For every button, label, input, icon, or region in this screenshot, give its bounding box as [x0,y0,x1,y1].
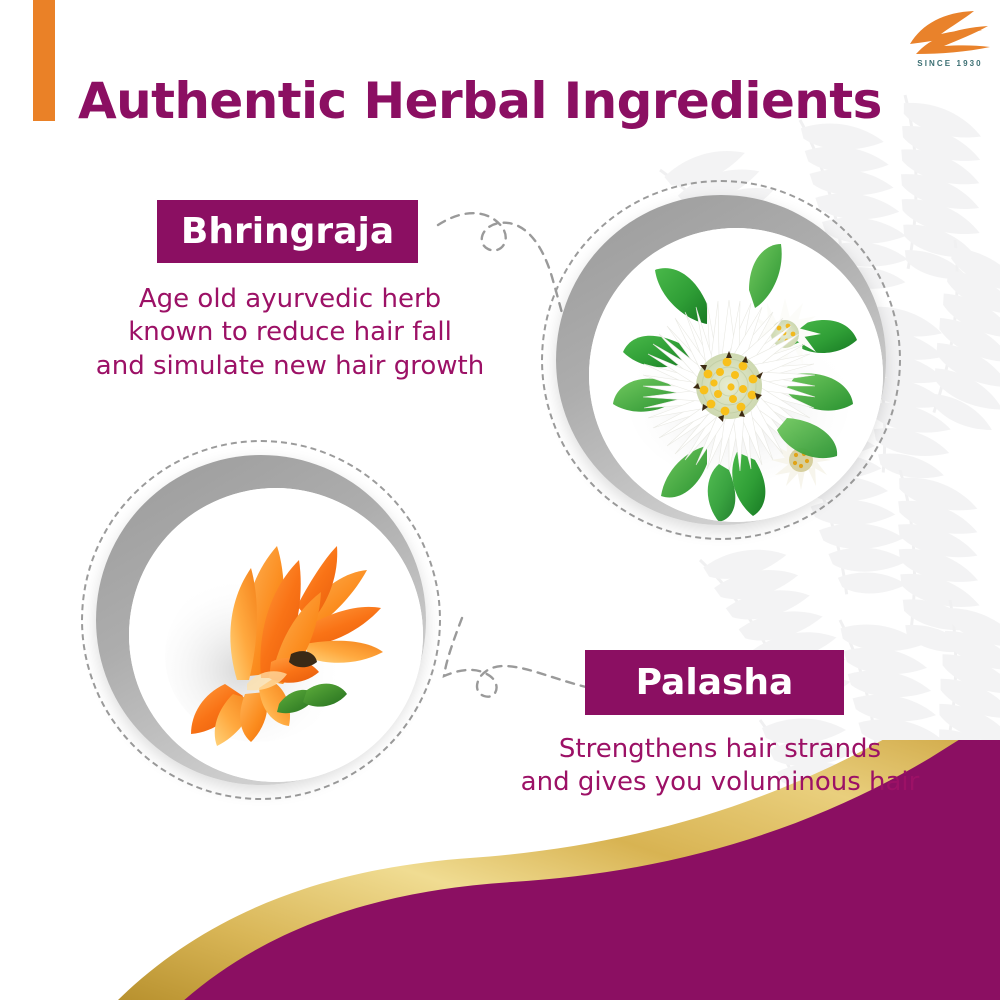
ingredient-description-palasha: Strengthens hair strands and gives you v… [470,733,970,800]
medallion-gray-ring [556,195,886,525]
bhringraja-flower-art [589,228,883,522]
medallion-gray-ring [96,455,426,785]
ingredient-image-palasha [81,440,441,800]
ingredient-image-bhringraja [541,180,901,540]
flame-swoosh-logo-icon [908,10,992,56]
ingredient-name-palasha: Palasha [636,662,794,703]
medallion-photo-area [589,228,883,522]
palasha-flower-art [129,488,423,782]
title-accent-bar [33,0,55,121]
brand-logo: SINCE 1930 [908,10,992,80]
ingredient-description-bhringraja: Age old ayurvedic herb known to reduce h… [40,283,540,383]
logo-tagline: SINCE 1930 [908,59,992,68]
poster-canvas: Authentic Herbal Ingredients SINCE 1930 [0,0,1000,1000]
ingredient-chip-palasha: Palasha [585,650,844,715]
ingredient-chip-bhringraja: Bhringraja [157,200,418,263]
page-title: Authentic Herbal Ingredients [78,72,882,130]
ingredient-name-bhringraja: Bhringraja [181,211,394,252]
medallion-photo-area [129,488,423,782]
